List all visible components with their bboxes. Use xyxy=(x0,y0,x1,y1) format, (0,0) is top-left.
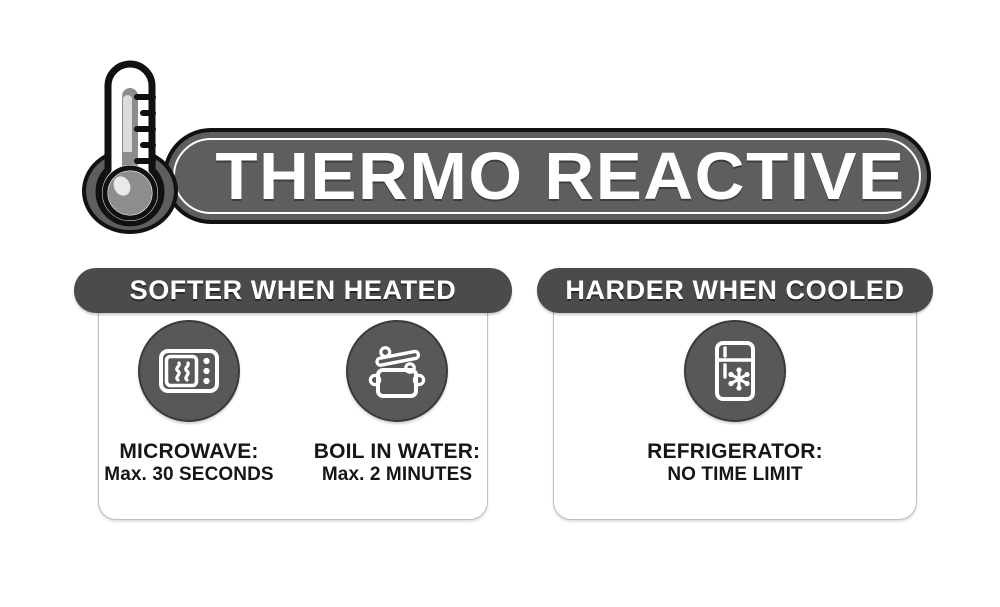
microwave-icon xyxy=(138,320,240,422)
panels: SOFTER WHEN HEATED xyxy=(0,268,1000,538)
panel-header-harder: HARDER WHEN COOLED xyxy=(537,268,933,313)
banner-pill: THERMO REACTIVE xyxy=(163,128,931,224)
item-microwave: MICROWAVE: Max. 30 SECONDS xyxy=(98,320,280,485)
panel-header-softer: SOFTER WHEN HEATED xyxy=(74,268,512,313)
banner: THERMO REACTIVE xyxy=(0,0,1000,262)
item-boil-in-water: BOIL IN WATER: Max. 2 MINUTES xyxy=(306,320,488,485)
caption-line-1: BOIL IN WATER: xyxy=(314,440,481,464)
caption-line-2: NO TIME LIMIT xyxy=(647,464,823,486)
page-title: THERMO REACTIVE xyxy=(188,143,905,210)
refrigerator-icon xyxy=(684,320,786,422)
panel-header-label: SOFTER WHEN HEATED xyxy=(130,275,457,306)
item-refrigerator: REFRIGERATOR: NO TIME LIMIT xyxy=(585,320,885,485)
panel-items: MICROWAVE: Max. 30 SECONDS xyxy=(74,320,512,485)
pot-icon xyxy=(346,320,448,422)
caption-line-2: Max. 2 MINUTES xyxy=(314,464,481,486)
panel-header-label: HARDER WHEN COOLED xyxy=(565,275,904,306)
item-caption: BOIL IN WATER: Max. 2 MINUTES xyxy=(314,440,481,485)
thermometer-icon xyxy=(78,52,182,244)
infographic-root: THERMO REACTIVE xyxy=(0,0,1000,607)
item-caption: MICROWAVE: Max. 30 SECONDS xyxy=(104,440,273,485)
panel-items: REFRIGERATOR: NO TIME LIMIT xyxy=(537,320,933,485)
caption-line-2: Max. 30 SECONDS xyxy=(104,464,273,486)
caption-line-1: REFRIGERATOR: xyxy=(647,440,823,464)
item-caption: REFRIGERATOR: NO TIME LIMIT xyxy=(647,440,823,485)
caption-line-1: MICROWAVE: xyxy=(104,440,273,464)
